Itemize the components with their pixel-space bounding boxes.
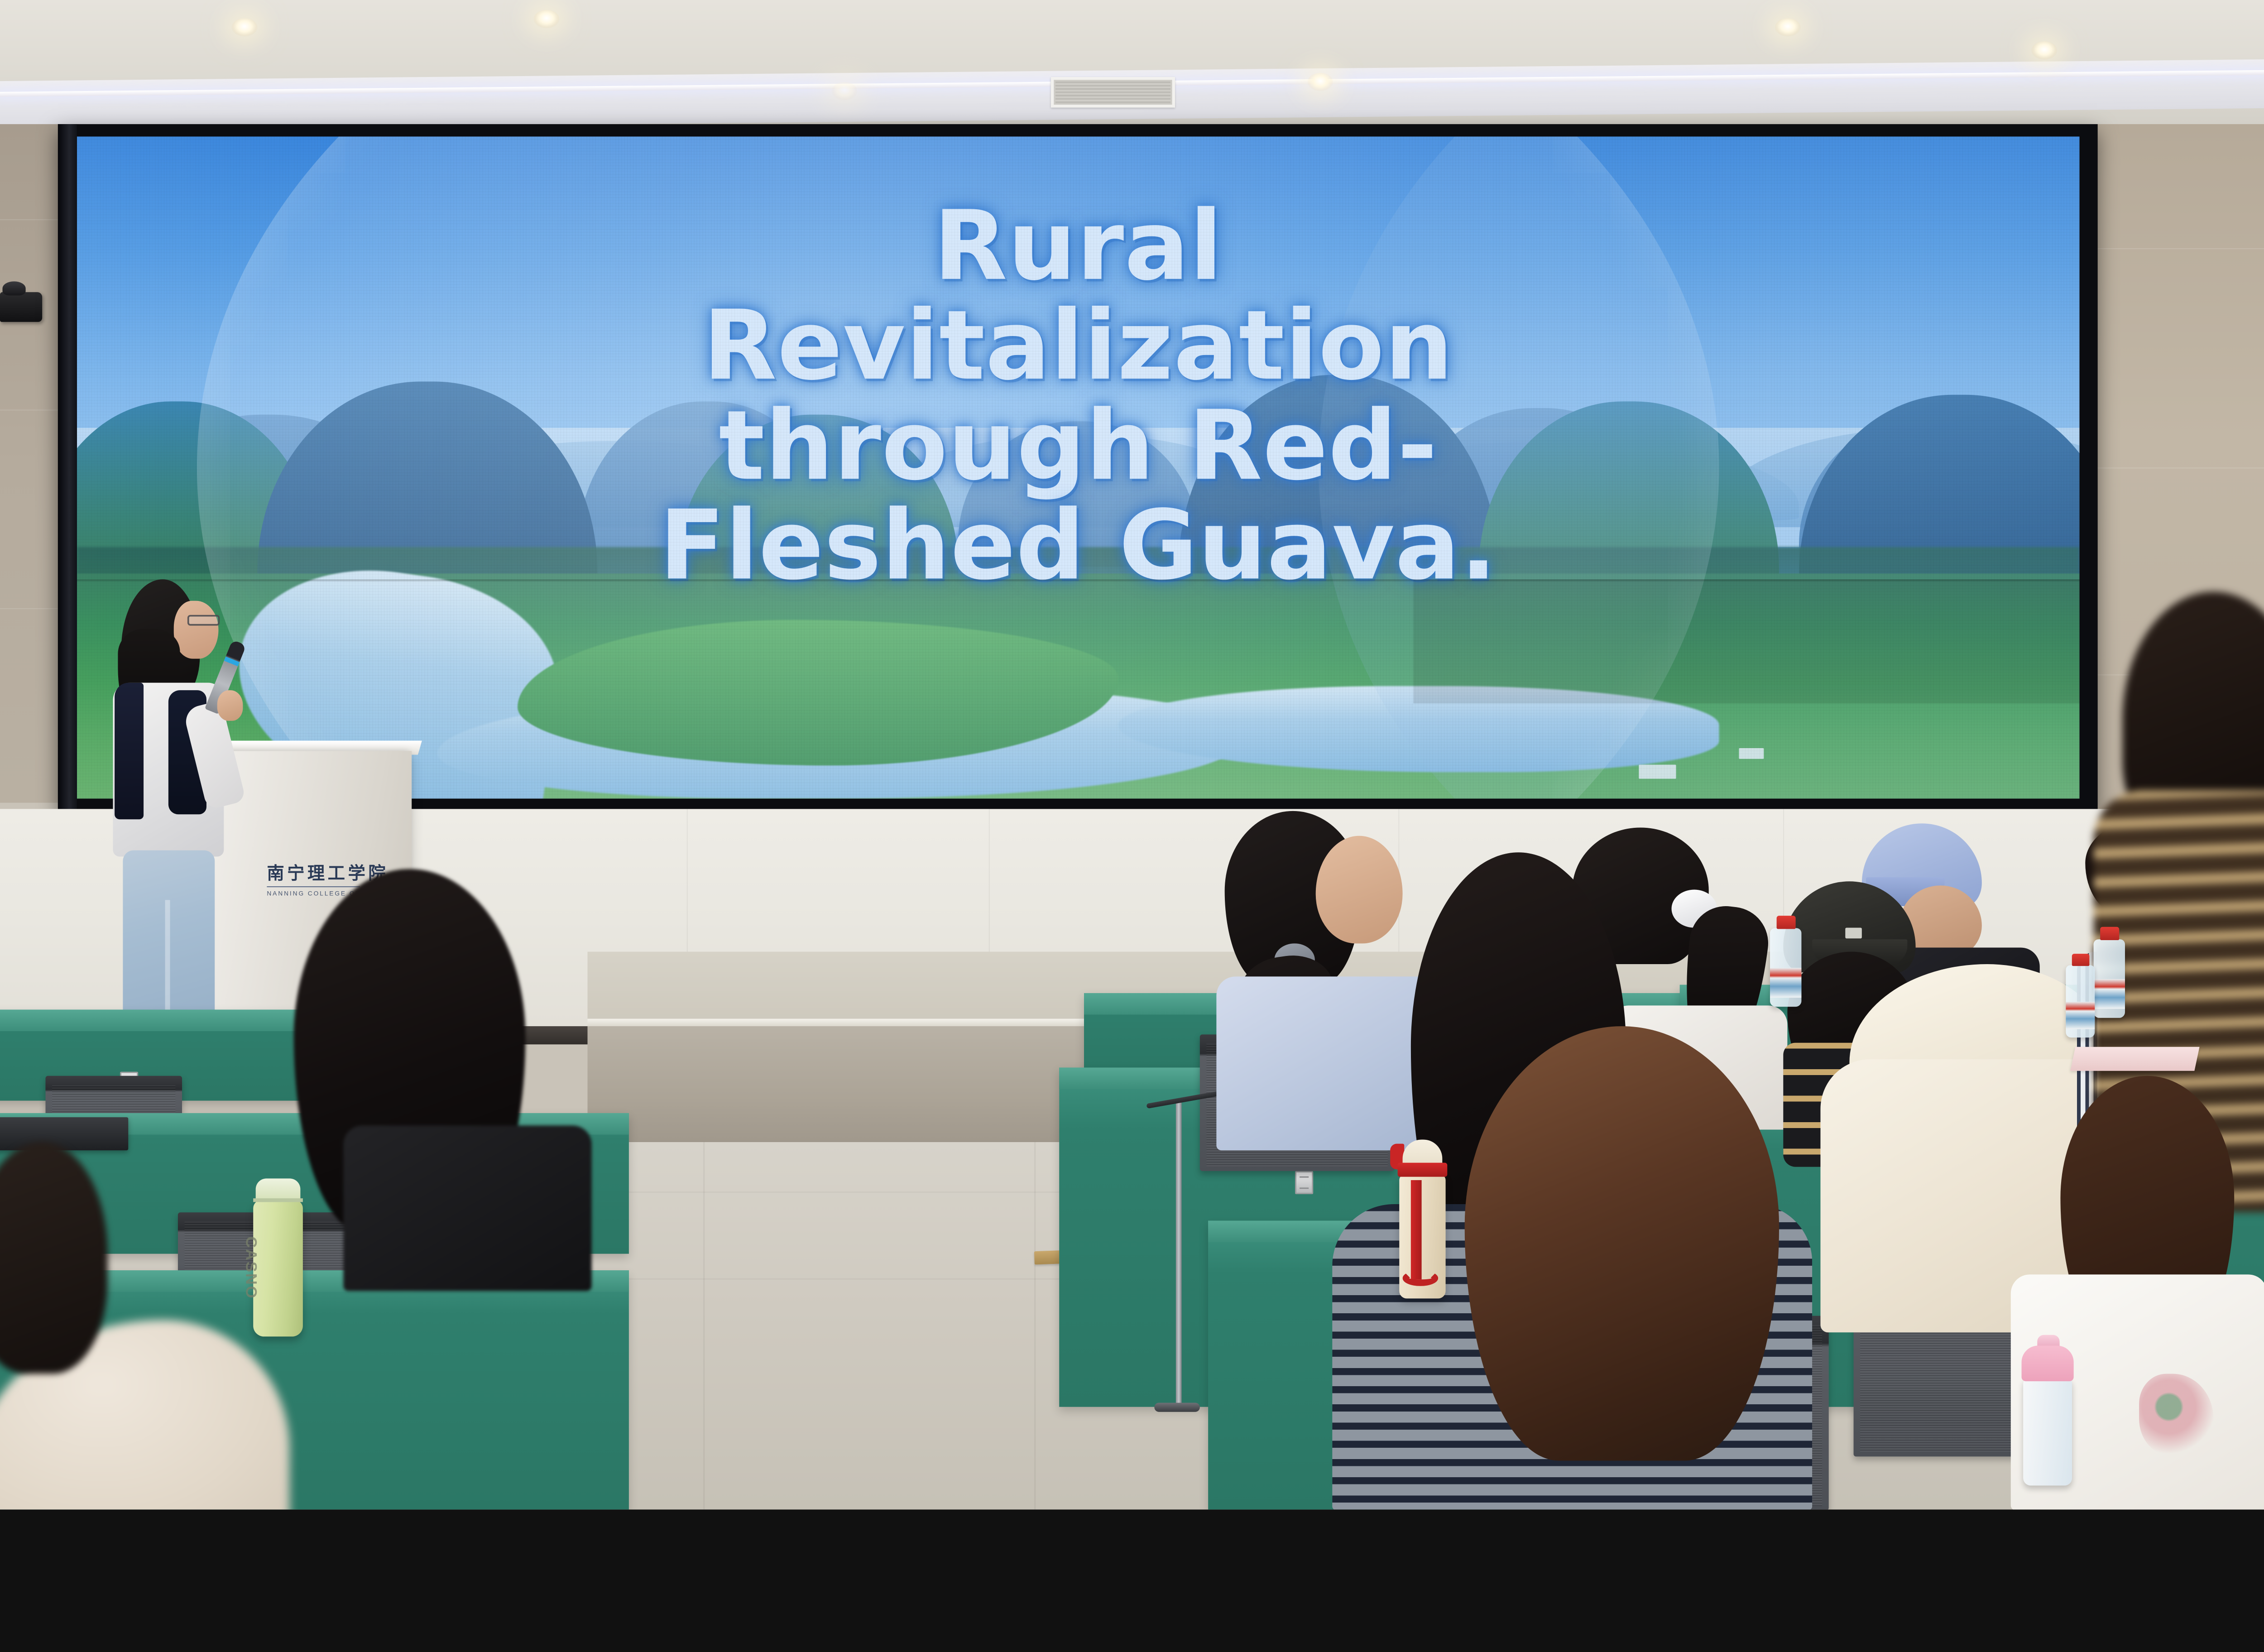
lecture-hall-scene: Rural Revitalization through Red- Fleshe… (0, 0, 2264, 1509)
presenter (106, 579, 242, 1038)
bottle-cap (2100, 927, 2119, 940)
thermos-collar (1398, 1163, 1448, 1177)
downlight-5 (2031, 41, 2057, 59)
slide-title-line-2: Revitalization (106, 296, 2051, 396)
cream-red-thermos[interactable] (1399, 1174, 1445, 1298)
laptop[interactable] (0, 1117, 128, 1150)
cap-buckle-icon (1845, 928, 1862, 939)
audience-member-a1 (281, 869, 595, 1283)
bottle-label (2094, 979, 2125, 1009)
water-bottle[interactable] (2094, 939, 2125, 1018)
presentation-screen[interactable]: Rural Revitalization through Red- Fleshe… (77, 137, 2080, 799)
bottle-label (2066, 1002, 2095, 1029)
pink-sipper-bottle[interactable] (2023, 1378, 2072, 1486)
downlight-1 (232, 18, 258, 36)
ceiling-vent-icon (1051, 77, 1175, 108)
water-bottle[interactable] (1770, 928, 1801, 1007)
paper-handout[interactable] (2070, 1047, 2199, 1071)
bottle-cap (2072, 954, 2090, 966)
slide-title-line-3: through Red- (106, 396, 2051, 495)
presenter-vest (115, 683, 144, 820)
thermos-strap (1411, 1180, 1422, 1279)
led-video-wall-frame: Rural Revitalization through Red- Fleshe… (58, 124, 2098, 811)
downlight-6 (832, 82, 858, 100)
slide-title: Rural Revitalization through Red- Fleshe… (77, 196, 2080, 595)
bottle-cap (2022, 1345, 2074, 1381)
presenter-hand (217, 690, 243, 721)
bottle-cap (1777, 916, 1796, 929)
hair (1465, 1026, 1779, 1460)
audience-member-a5 (1307, 1026, 1861, 1509)
microphone-stand[interactable] (1176, 1101, 1182, 1407)
presenter-face (174, 601, 219, 659)
glasses-icon (187, 615, 220, 626)
slide-title-line-1: Rural (106, 196, 2051, 296)
led-panel-seam (1413, 579, 2079, 703)
downlight-2 (534, 10, 560, 28)
downlight-3 (1307, 73, 1333, 91)
thermos-strap-loop (1403, 1270, 1439, 1286)
torso (343, 1125, 591, 1291)
bottle-brand-text: CASNO (242, 1236, 260, 1299)
bottle-label (1770, 968, 1801, 998)
microphone-stand-base (1154, 1403, 1200, 1412)
downlight-4 (1775, 18, 1801, 36)
water-bottle[interactable] (2066, 965, 2095, 1037)
speaker-icon (0, 292, 42, 322)
